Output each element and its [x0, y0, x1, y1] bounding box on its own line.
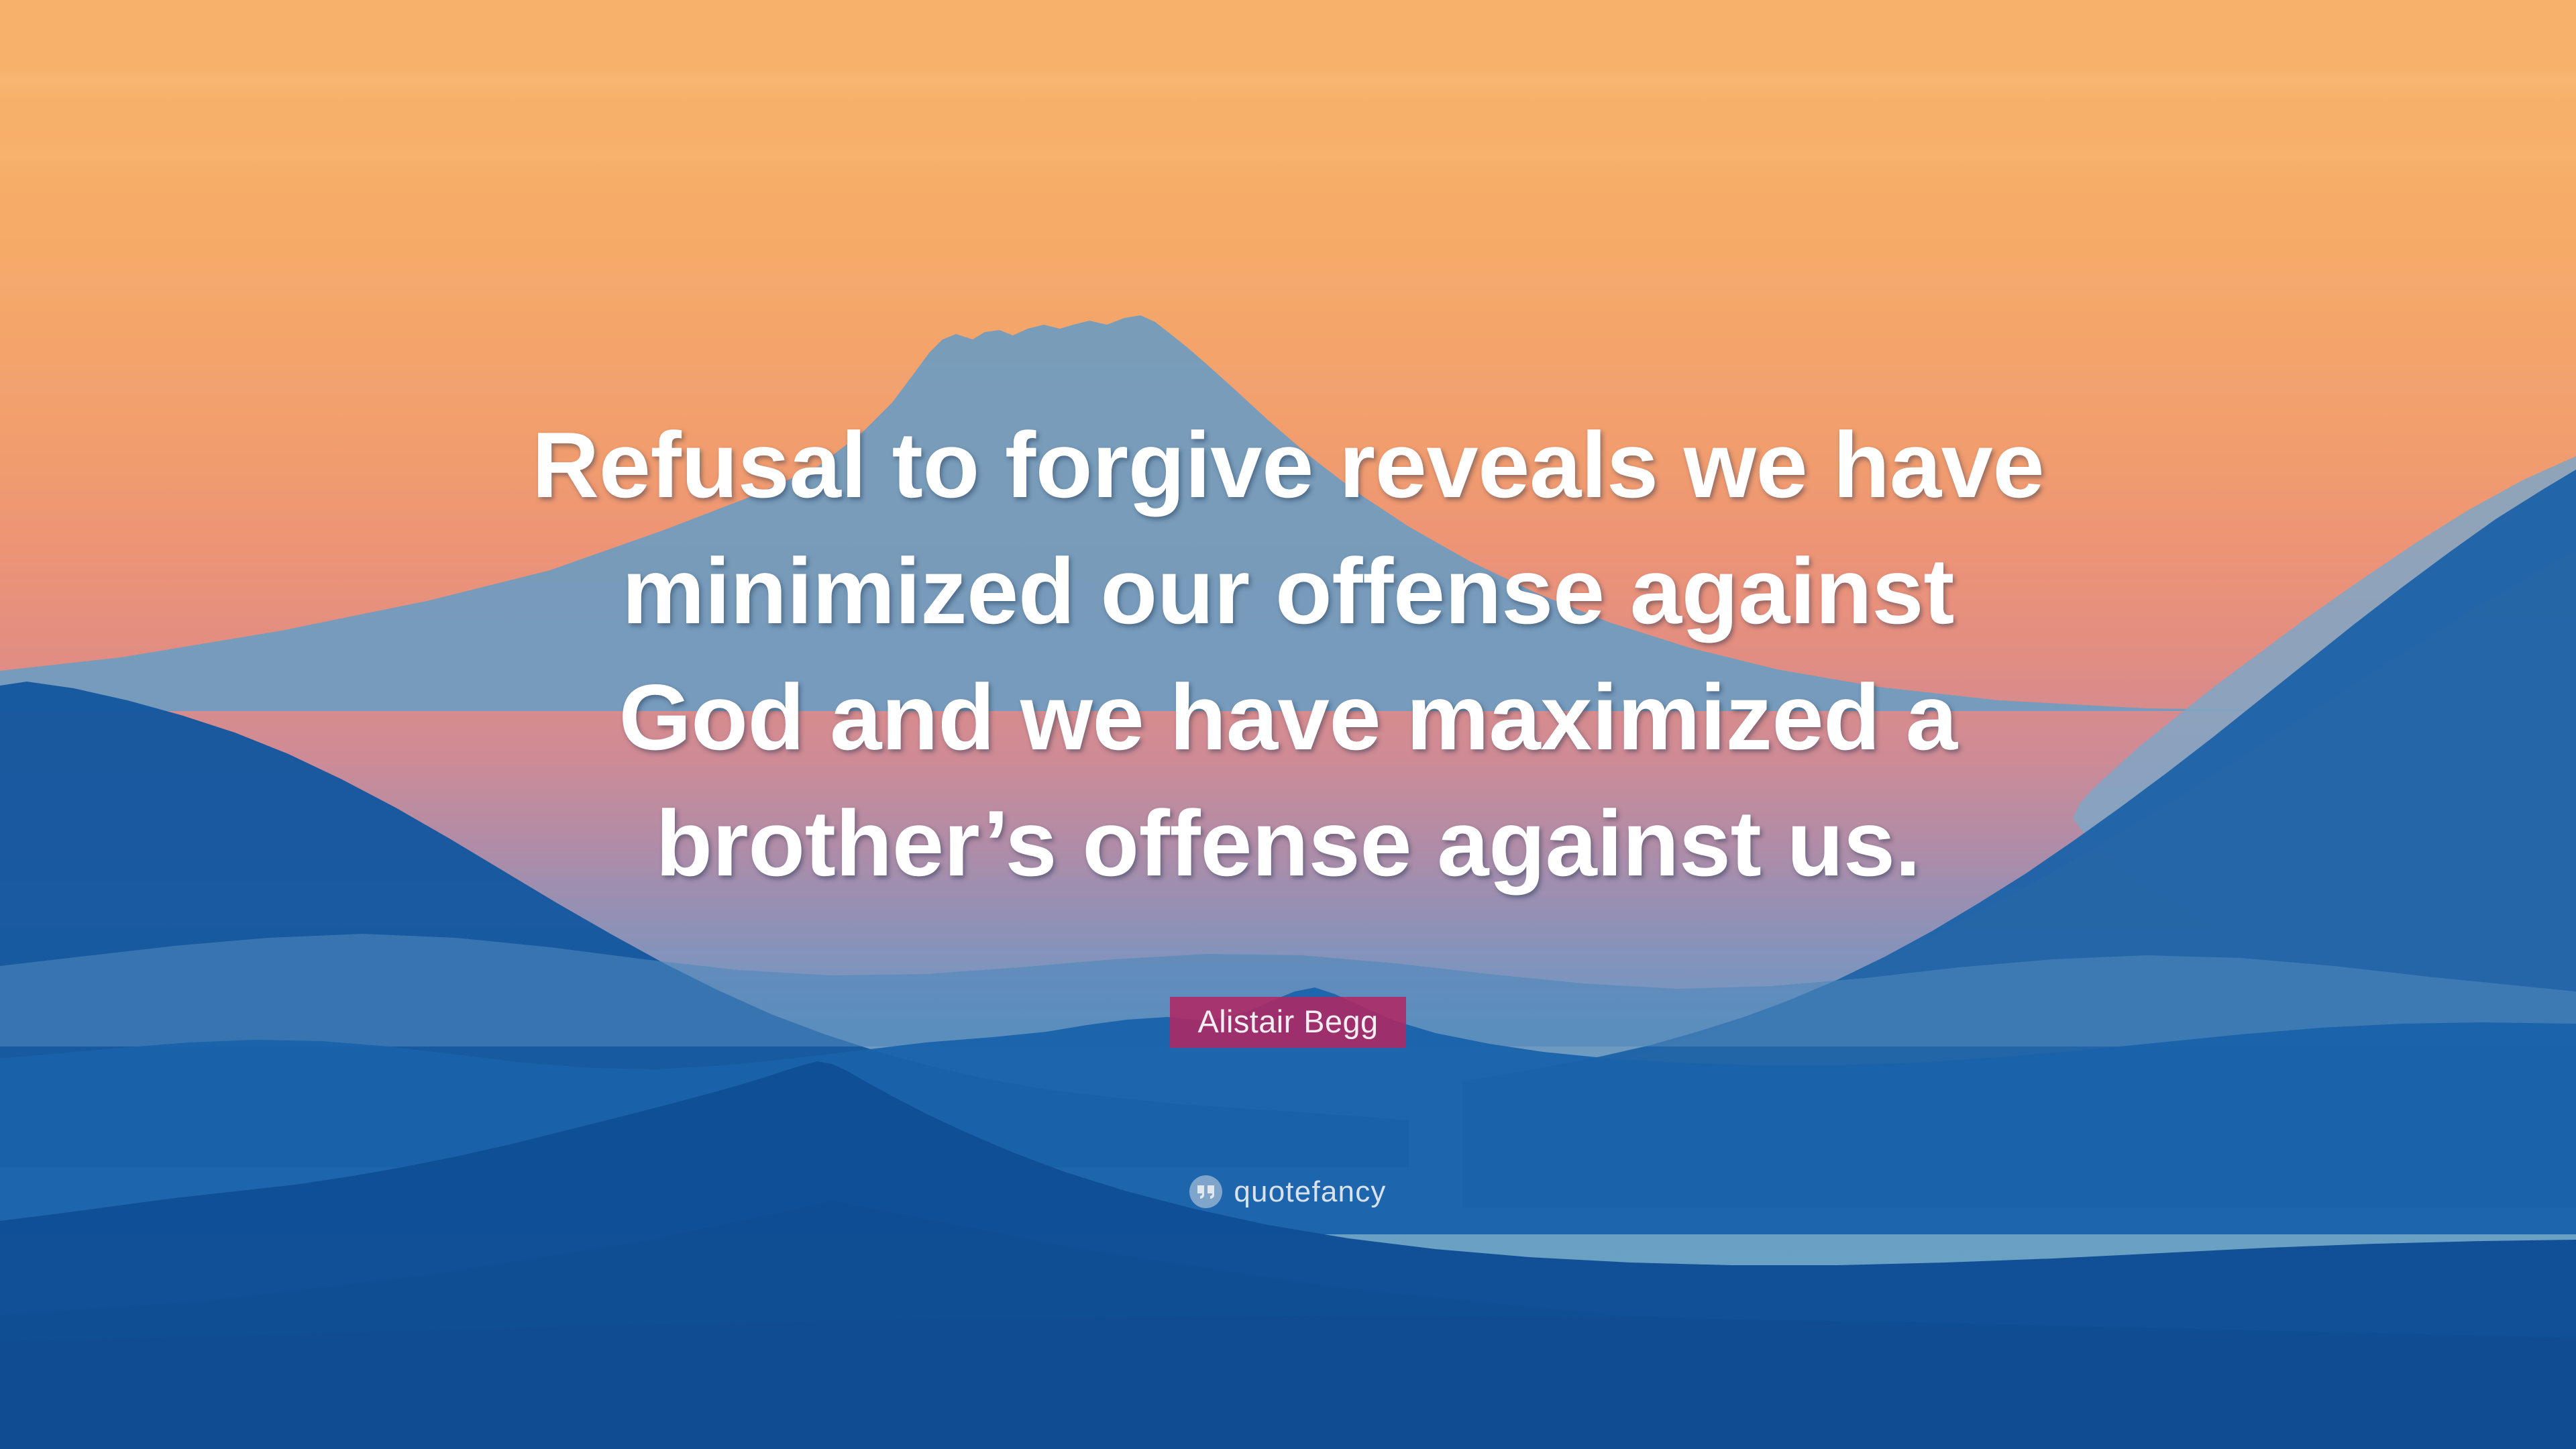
quote-wallpaper: Refusal to forgive reveals we have minim…: [0, 0, 2576, 1449]
author-name-badge[interactable]: Alistair Begg: [1170, 997, 1405, 1048]
quote-line-4: brother’s offense against us.: [228, 781, 2348, 907]
quote-block: Refusal to forgive reveals we have minim…: [0, 402, 2576, 907]
quote-text: Refusal to forgive reveals we have minim…: [0, 402, 2576, 907]
quote-line-1: Refusal to forgive reveals we have: [228, 402, 2348, 529]
quote-line-3: God and we have maximized a: [228, 655, 2348, 781]
author-attribution-row: Alistair Begg: [0, 997, 2576, 1048]
quote-mark-icon: [1189, 1175, 1222, 1208]
quotefancy-brand-text: quotefancy: [1234, 1177, 1386, 1207]
quotefancy-watermark[interactable]: quotefancy: [0, 1175, 2576, 1208]
foreground-base-band: [0, 1261, 2576, 1449]
quote-line-2: minimized our offense against: [228, 529, 2348, 655]
